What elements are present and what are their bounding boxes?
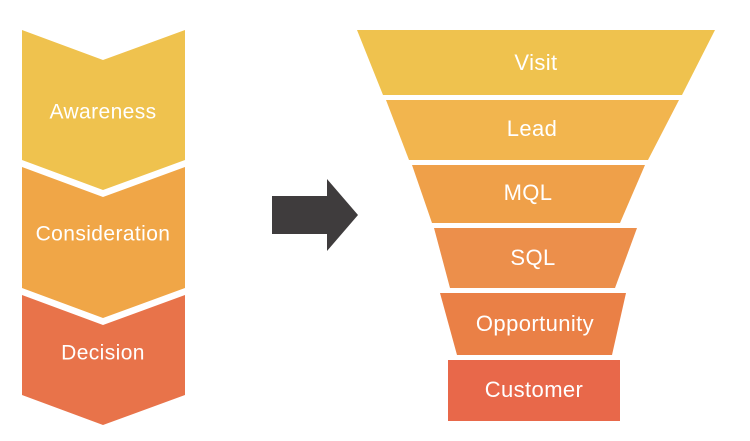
transition-arrow-group <box>272 179 358 251</box>
sales-funnel-group: Visit Lead MQL SQL Opportunity Customer <box>357 30 715 421</box>
funnel-stage-sql[interactable]: SQL <box>434 228 637 288</box>
chevron-label-consideration: Consideration <box>36 223 171 246</box>
funnel-stage-opportunity[interactable]: Opportunity <box>440 293 626 355</box>
chevron-label-awareness: Awareness <box>49 101 156 124</box>
arrow-right-icon <box>272 179 358 251</box>
buyer-journey-group: Awareness Consideration Decision <box>22 30 185 425</box>
funnel-stage-visit[interactable]: Visit <box>357 30 715 95</box>
funnel-label-customer: Customer <box>485 377 584 402</box>
funnel-stage-lead[interactable]: Lead <box>386 100 679 160</box>
diagram-canvas: Awareness Consideration Decision Visit <box>0 0 750 441</box>
funnel-stage-customer[interactable]: Customer <box>448 360 620 421</box>
funnel-stage-mql[interactable]: MQL <box>412 165 645 223</box>
funnel-label-lead: Lead <box>507 116 558 141</box>
chevron-label-decision: Decision <box>61 342 145 365</box>
funnel-diagram-svg: Awareness Consideration Decision Visit <box>0 0 750 441</box>
chevron-stage-awareness[interactable]: Awareness <box>22 30 185 190</box>
funnel-label-opportunity: Opportunity <box>476 311 594 336</box>
funnel-label-visit: Visit <box>514 50 557 75</box>
funnel-label-sql: SQL <box>510 245 555 270</box>
funnel-label-mql: MQL <box>504 180 553 205</box>
